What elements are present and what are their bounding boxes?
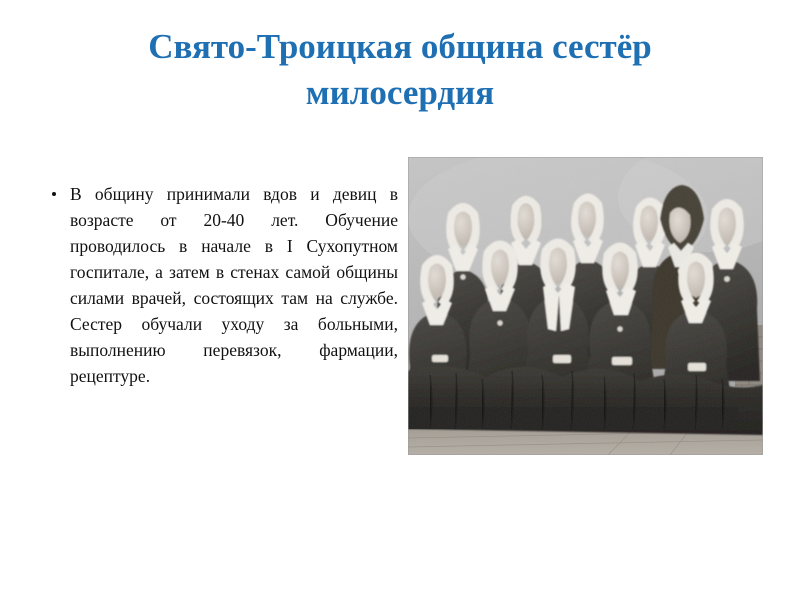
bullet-item: В общину принимали вдов и девиц в возрас… [50,181,398,390]
page-title-line-2: милосердия [40,70,760,116]
body-text-block: В общину принимали вдов и девиц в возрас… [50,163,398,407]
historical-photo [408,157,763,455]
slide-canvas: Свято-Троицкая община сестёр милосердия … [0,0,800,600]
page-title: Свято-Троицкая община сестёр милосердия [40,24,760,116]
historical-photo-illustration [408,157,763,455]
page-title-line-1: Свято-Троицкая община сестёр [40,24,760,70]
